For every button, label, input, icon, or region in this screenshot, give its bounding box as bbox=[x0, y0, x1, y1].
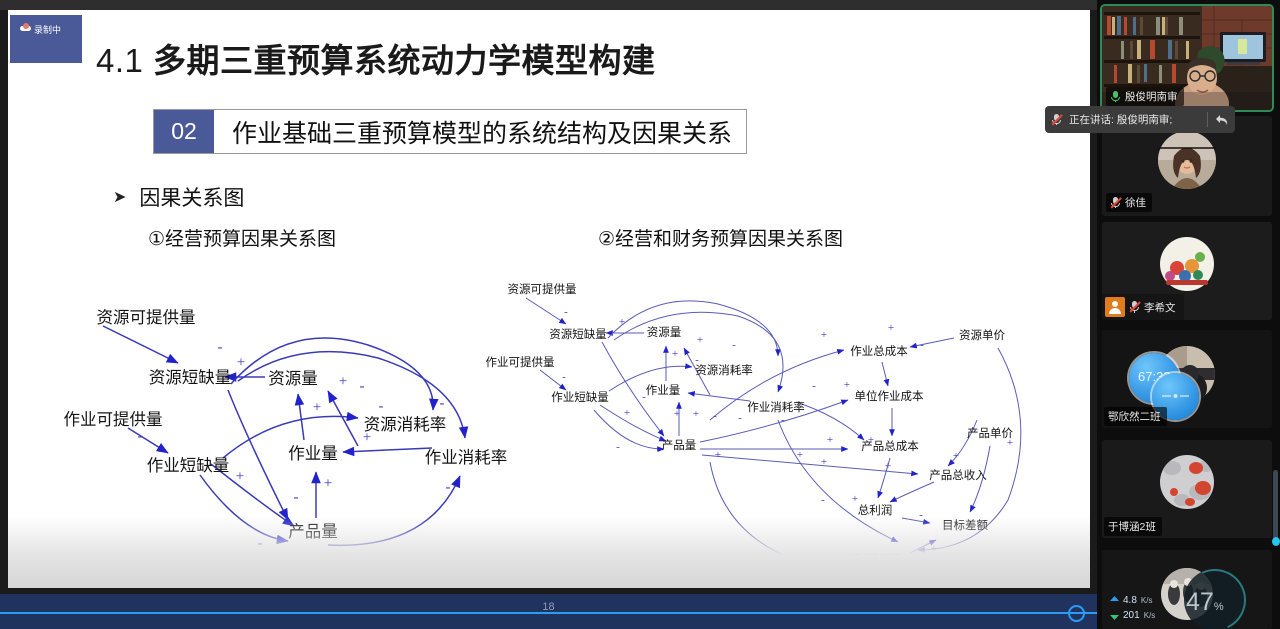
polarity-sign: + bbox=[852, 493, 858, 505]
diagram-node: 资源量 bbox=[647, 324, 682, 340]
caption-left: ①经营预算因果关系图 bbox=[148, 224, 336, 251]
bullet-item: ➤ 因果关系图 bbox=[113, 182, 244, 212]
polarity-sign: + bbox=[931, 543, 937, 555]
polarity-sign: - bbox=[732, 339, 736, 351]
cloud-record-icon bbox=[20, 23, 31, 31]
polarity-sign: + bbox=[1007, 437, 1013, 449]
diagram-node: 作业可提供量 bbox=[64, 406, 163, 430]
polarity-sign: - bbox=[379, 399, 384, 416]
diagram-node: 作业短缺量 bbox=[147, 452, 230, 476]
polarity-sign: + bbox=[821, 456, 827, 468]
polarity-sign: + bbox=[821, 329, 827, 341]
cpu-gauge-value: 47% bbox=[1186, 588, 1224, 617]
participant-name-pill-0: 殷俊明南审 bbox=[1106, 87, 1184, 106]
diagram-node: 利润目标 bbox=[855, 551, 901, 567]
polarity-sign: + bbox=[339, 374, 347, 391]
shared-screen-stage: 录制中 4.1 多期三重预算系统动力学模型构建 02 作业基础三重预算模型的系统… bbox=[0, 0, 1097, 629]
polarity-sign: + bbox=[697, 334, 703, 346]
participant-rail[interactable]: 殷俊明南审 正在讲话: 殷俊明南审; bbox=[1097, 0, 1280, 629]
diagram-node: 目标差额 bbox=[942, 517, 988, 533]
polarity-sign: - bbox=[138, 429, 143, 446]
participant-name-2: 李希文 bbox=[1144, 300, 1176, 315]
diagram-node: 资源短缺量 bbox=[149, 364, 232, 388]
polarity-sign: + bbox=[797, 449, 803, 461]
polarity-sign: - bbox=[440, 396, 445, 413]
bullet-label: 因果关系图 bbox=[139, 182, 244, 212]
network-stats: 4.8 K/s 201 K/s bbox=[1110, 593, 1155, 623]
speaking-toast[interactable]: 正在讲话: 殷俊明南审; bbox=[1045, 106, 1235, 133]
section-header: 02 作业基础三重预算模型的系统结构及因果关系 bbox=[153, 109, 747, 154]
download-value: 201 bbox=[1123, 608, 1140, 623]
participant-name-pill-4: 于博涵2班 bbox=[1104, 517, 1162, 536]
polarity-sign: + bbox=[236, 469, 244, 486]
reply-arrow-icon[interactable] bbox=[1215, 114, 1229, 126]
polarity-sign: - bbox=[642, 391, 646, 403]
polarity-sign: - bbox=[920, 339, 924, 351]
polarity-sign: + bbox=[324, 476, 332, 493]
polarity-sign: - bbox=[564, 306, 568, 318]
polarity-sign: - bbox=[695, 354, 699, 366]
polarity-sign: + bbox=[313, 400, 321, 417]
network-download: 201 K/s bbox=[1110, 608, 1155, 623]
participant-name-pill-1: 徐佳 bbox=[1106, 193, 1152, 212]
recording-label: 录制中 bbox=[34, 23, 61, 36]
polarity-sign: - bbox=[738, 412, 742, 424]
polarity-sign: - bbox=[562, 371, 566, 383]
diagram-node: 资源量 bbox=[268, 365, 318, 389]
network-upload: 4.8 K/s bbox=[1110, 593, 1155, 608]
diagram-node: 资源可提供量 bbox=[508, 281, 577, 297]
title-number: 4.1 bbox=[96, 42, 143, 79]
section-number: 02 bbox=[154, 110, 214, 153]
polarity-sign: + bbox=[868, 434, 874, 446]
upload-unit: K/s bbox=[1141, 593, 1153, 608]
presentation-slide: 录制中 4.1 多期三重预算系统动力学模型构建 02 作业基础三重预算模型的系统… bbox=[8, 10, 1090, 588]
polarity-sign: - bbox=[294, 490, 299, 507]
polarity-sign: + bbox=[674, 408, 680, 420]
diagram-node: 作业量 bbox=[646, 382, 681, 398]
participant-name-3: 鄂欣然二班 bbox=[1108, 409, 1161, 424]
polarity-sign: - bbox=[812, 380, 816, 392]
diagram-node: 作业总成本 bbox=[850, 343, 908, 359]
polarity-sign: - bbox=[919, 509, 923, 521]
polarity-sign: - bbox=[781, 414, 785, 426]
host-badge-icon bbox=[1105, 297, 1125, 317]
polarity-sign: - bbox=[446, 480, 451, 497]
diagram-node: 资源消耗率 bbox=[364, 411, 447, 435]
polarity-sign: + bbox=[844, 379, 850, 391]
stage-top-strip bbox=[0, 0, 1097, 10]
polarity-sign: + bbox=[363, 430, 371, 447]
download-arrow-icon bbox=[1110, 611, 1119, 620]
rail-scrollbar[interactable] bbox=[1273, 470, 1278, 542]
participant-name-0: 殷俊明南审 bbox=[1125, 89, 1178, 104]
polarity-sign: + bbox=[693, 408, 699, 420]
polarity-sign: + bbox=[237, 355, 245, 372]
speaking-toast-text: 正在讲话: 殷俊明南审; bbox=[1069, 112, 1172, 127]
diagram-node: 资源消耗率 bbox=[695, 362, 753, 378]
diagram-node: 作业量 bbox=[288, 440, 338, 464]
participant-tile-2[interactable]: 李希文 bbox=[1102, 222, 1272, 320]
polarity-sign: - bbox=[258, 536, 263, 553]
participant-name-pill-3: 鄂欣然二班 bbox=[1104, 407, 1167, 426]
recording-badge: 录制中 bbox=[10, 15, 82, 63]
diagram-node: 产品量 bbox=[662, 437, 697, 453]
polarity-sign: + bbox=[885, 460, 891, 472]
diagram-node: 作业消耗率 bbox=[747, 399, 805, 415]
download-unit: K/s bbox=[1144, 608, 1156, 623]
page-title: 4.1 多期三重预算系统动力学模型构建 bbox=[96, 34, 656, 82]
polarity-sign: - bbox=[218, 340, 223, 357]
diagram-node: 资源短缺量 bbox=[549, 326, 607, 342]
diagram-node: 产品量 bbox=[288, 518, 338, 542]
upload-arrow-icon bbox=[1110, 596, 1119, 605]
participant-tile-5[interactable]: 4.8 K/s 201 K/s 47% bbox=[1102, 550, 1272, 629]
polarity-sign: - bbox=[360, 379, 365, 396]
polarity-sign: - bbox=[821, 494, 825, 506]
participant-tile-3[interactable]: 67:33 鄂欣然二班 bbox=[1102, 330, 1272, 428]
diagram-node: 单位作业成本 bbox=[855, 388, 924, 404]
rail-scrollbar-thumb[interactable] bbox=[1272, 537, 1280, 546]
polarity-sign: - bbox=[616, 441, 620, 453]
participant-tile-4[interactable]: 于博涵2班 bbox=[1102, 440, 1272, 538]
mic-muted-icon bbox=[1051, 114, 1062, 126]
diagram-node: 作业可提供量 bbox=[486, 354, 555, 370]
polarity-sign: + bbox=[624, 407, 630, 419]
mic-on-icon bbox=[1110, 91, 1121, 103]
bullet-arrow-icon: ➤ bbox=[113, 187, 126, 207]
progress-track[interactable] bbox=[0, 612, 1097, 614]
participant-name-4: 于博涵2班 bbox=[1108, 519, 1156, 534]
title-text: 多期三重预算系统动力学模型构建 bbox=[153, 42, 656, 79]
upload-value: 4.8 bbox=[1123, 593, 1137, 608]
diagram-node: 产品总收入 bbox=[929, 467, 987, 483]
toast-divider bbox=[1207, 112, 1208, 127]
section-title: 作业基础三重预算模型的系统结构及因果关系 bbox=[214, 110, 746, 153]
participant-name-pill-2: 李希文 bbox=[1102, 294, 1184, 320]
polarity-sign: + bbox=[953, 450, 959, 462]
diagram-node: 作业短缺量 bbox=[551, 389, 609, 405]
polarity-sign: + bbox=[715, 449, 721, 461]
progress-handle[interactable] bbox=[1068, 605, 1085, 622]
mic-muted-icon bbox=[1110, 197, 1121, 209]
mic-muted-icon bbox=[1129, 301, 1140, 313]
polarity-sign: + bbox=[827, 434, 833, 446]
participant-name-1: 徐佳 bbox=[1125, 195, 1146, 210]
diagram-node: 总利润 bbox=[858, 502, 893, 518]
caption-right: ②经营和财务预算因果关系图 bbox=[598, 224, 843, 251]
polarity-sign: - bbox=[713, 410, 717, 422]
participant-tile-0[interactable]: 殷俊明南审 bbox=[1102, 6, 1272, 110]
causal-loop-diagram-operating-financial: 资源可提供量资源短缺量资源量作业可提供量作业总成本资源单价资源消耗率单位作业成本… bbox=[478, 250, 1090, 588]
diagram-node: 资源单价 bbox=[959, 327, 1005, 343]
polarity-sign: + bbox=[619, 316, 625, 328]
diagram-node: 资源可提供量 bbox=[97, 304, 196, 328]
polarity-sign: + bbox=[888, 322, 894, 334]
polarity-sign: + bbox=[672, 348, 678, 360]
